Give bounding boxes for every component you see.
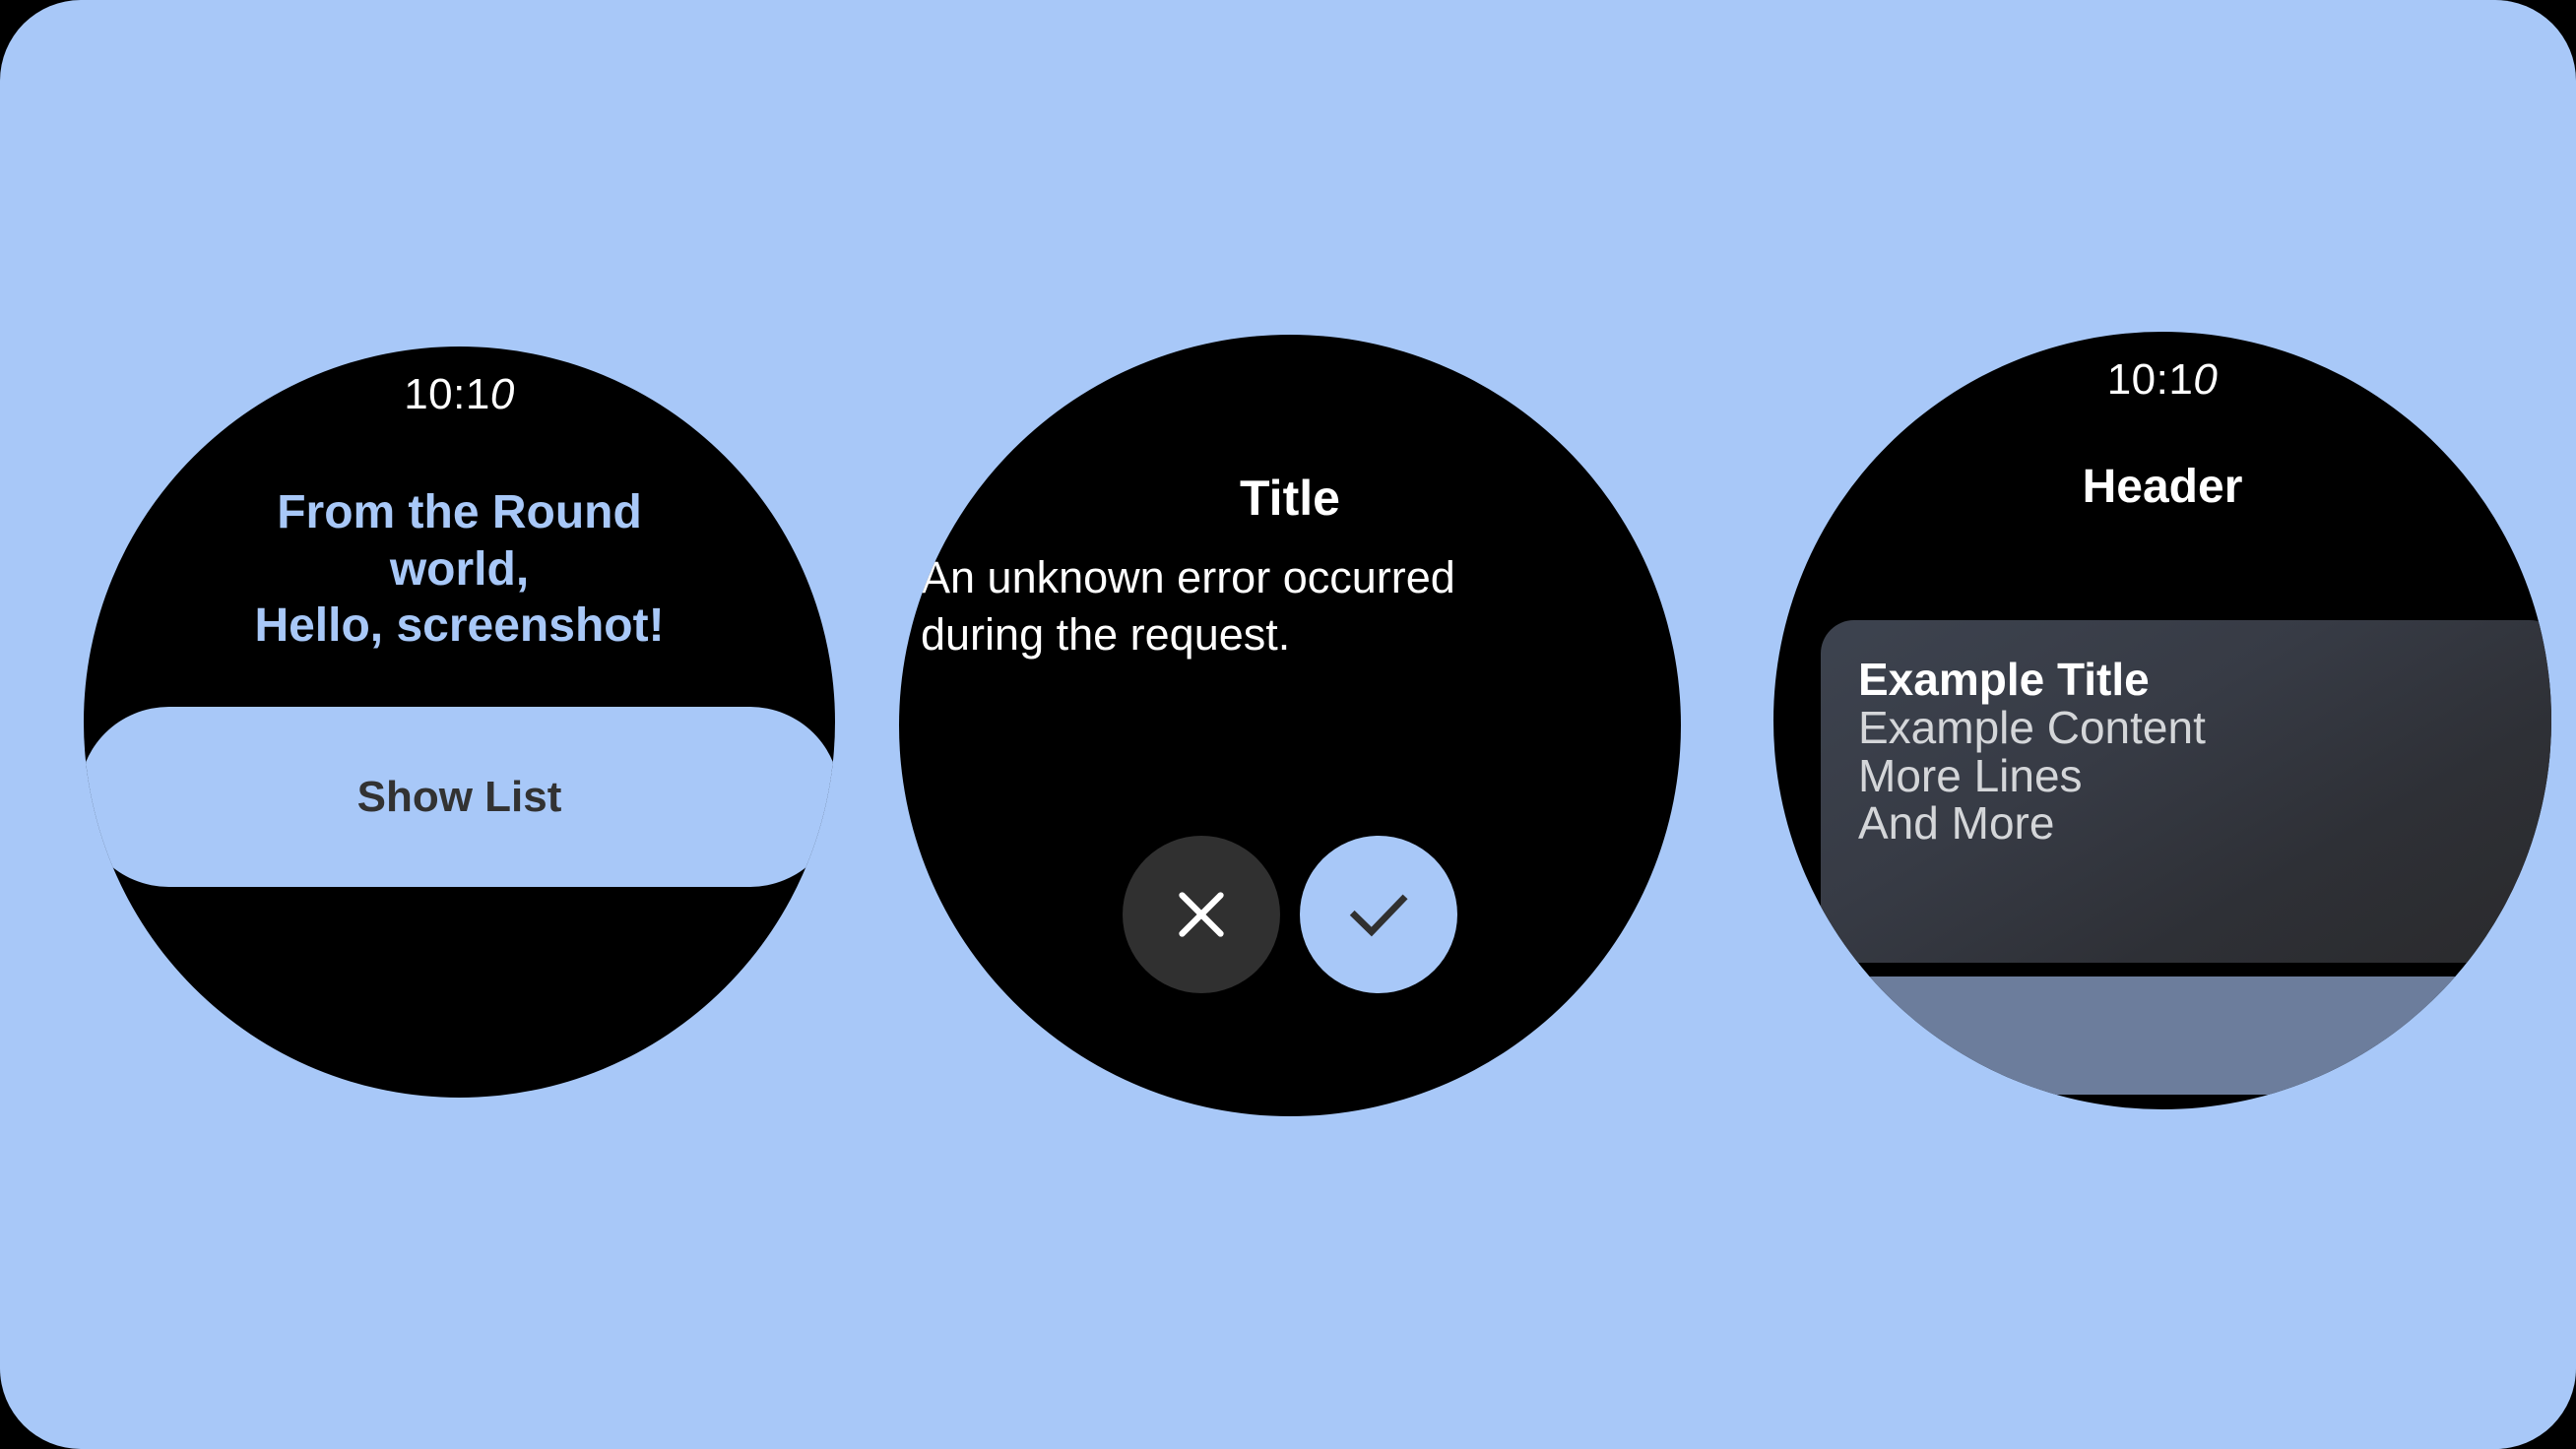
dialog-action-row bbox=[899, 836, 1681, 993]
list-item-line-2: More Lines bbox=[1858, 752, 2551, 800]
list-item-content: Example Title Example Content More Lines… bbox=[1821, 620, 2551, 848]
greeting-text-block: From the Round world, Hello, screenshot! bbox=[119, 484, 800, 655]
list-item-next-peek[interactable] bbox=[1821, 976, 2551, 1095]
status-time-head: 10:10 bbox=[404, 370, 515, 418]
dialog-message-line-2: during the request. bbox=[921, 606, 1659, 663]
confirm-button[interactable] bbox=[1300, 836, 1457, 993]
round-watch-list: 10:10 Header Example Title Example Conte… bbox=[1773, 332, 2551, 1109]
list-item[interactable]: Example Title Example Content More Lines… bbox=[1821, 620, 2551, 963]
greeting-line-1: From the Round bbox=[119, 484, 800, 541]
dismiss-button[interactable] bbox=[1123, 836, 1280, 993]
status-time-list: 10:10 bbox=[1773, 355, 2551, 405]
status-time-greeting: 10:10 bbox=[84, 370, 835, 419]
check-icon bbox=[1340, 876, 1417, 953]
dialog-message-line-1: An unknown error occurred bbox=[921, 549, 1659, 606]
greeting-line-3: Hello, screenshot! bbox=[119, 598, 800, 655]
close-icon bbox=[1166, 879, 1237, 950]
list-item-line-3: And More bbox=[1858, 799, 2551, 848]
show-list-button[interactable]: Show List bbox=[84, 707, 835, 887]
list-item-title: Example Title bbox=[1858, 656, 2551, 704]
list-item-line-1: Example Content bbox=[1858, 704, 2551, 752]
status-time-head: 10:10 bbox=[2107, 355, 2219, 404]
dialog-message: An unknown error occurred during the req… bbox=[921, 549, 1659, 662]
greeting-line-2: world, bbox=[119, 541, 800, 598]
list-header: Header bbox=[1773, 460, 2551, 514]
round-watch-error-dialog: Title An unknown error occurred during t… bbox=[899, 335, 1681, 1116]
screenshot-canvas: 10:10 From the Round world, Hello, scree… bbox=[0, 0, 2576, 1449]
dialog-title: Title bbox=[899, 470, 1681, 527]
round-watch-greeting: 10:10 From the Round world, Hello, scree… bbox=[84, 346, 835, 1098]
show-list-button-label: Show List bbox=[357, 773, 562, 822]
